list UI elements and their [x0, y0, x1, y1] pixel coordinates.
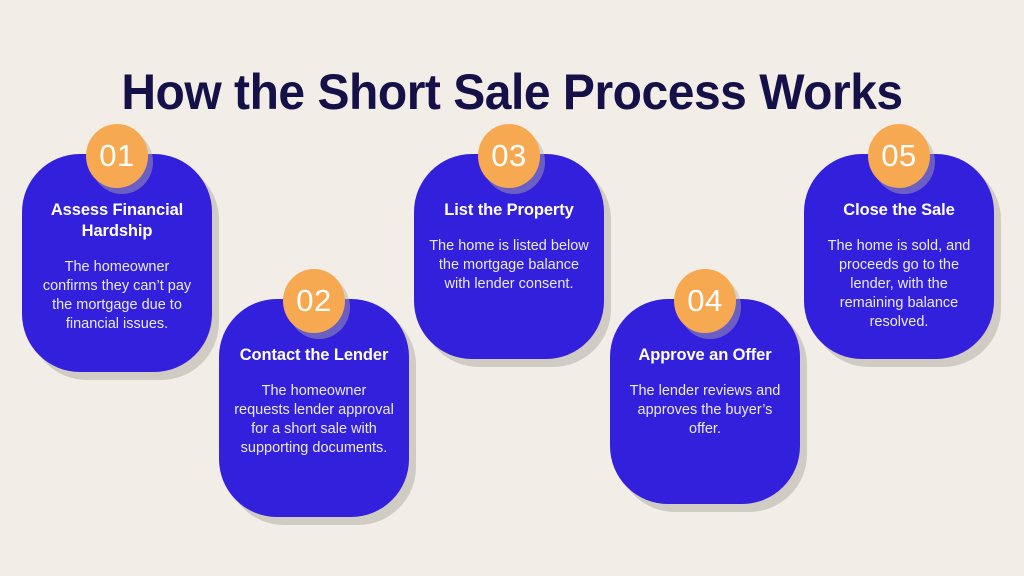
step-number-5: 05 [881, 140, 916, 171]
step-number-badge-4: 04 [674, 269, 736, 333]
step-number-badge-5: 05 [868, 124, 930, 188]
step-number-1: 01 [99, 140, 134, 171]
step-title-3: List the Property [426, 200, 592, 221]
step-description-2: The homeowner requests lender approval f… [231, 382, 397, 458]
step-title-4: Approve an Offer [622, 345, 788, 366]
step-description-4: The lender reviews and approves the buye… [622, 382, 788, 439]
step-number-badge-1: 01 [86, 124, 148, 188]
step-description-5: The home is sold, and proceeds go to the… [816, 237, 982, 332]
step-description-1: The homeowner confirms they can’t pay th… [34, 258, 200, 334]
step-title-2: Contact the Lender [231, 345, 397, 366]
step-number-badge-3: 03 [478, 124, 540, 188]
step-title-5: Close the Sale [816, 200, 982, 221]
process-steps-row: 01 Assess Financial Hardship The homeown… [0, 0, 1024, 576]
step-number-3: 03 [491, 140, 526, 171]
step-number-2: 02 [296, 285, 331, 316]
step-number-4: 04 [687, 285, 722, 316]
step-description-3: The home is listed below the mortgage ba… [426, 237, 592, 294]
step-number-badge-2: 02 [283, 269, 345, 333]
infographic-canvas: How the Short Sale Process Works 01 Asse… [0, 0, 1024, 576]
step-title-1: Assess Financial Hardship [34, 200, 200, 242]
